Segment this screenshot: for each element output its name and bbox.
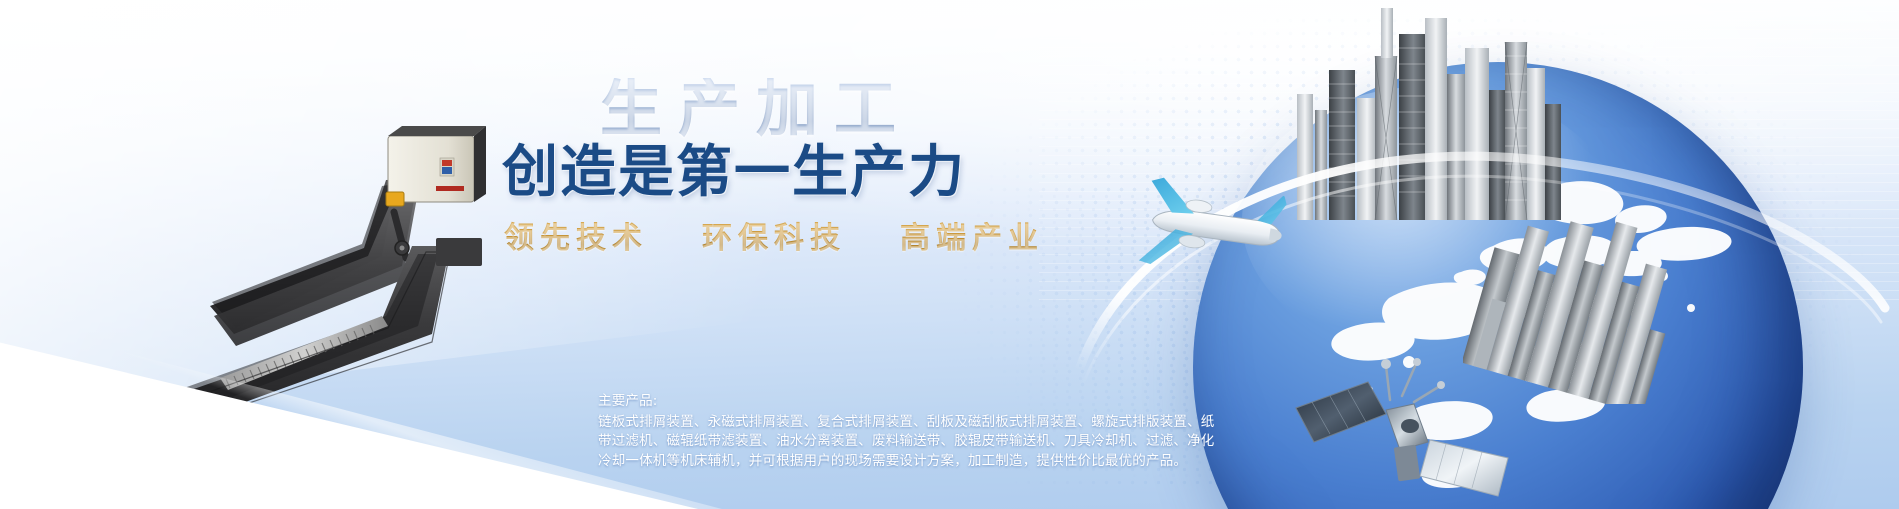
- banner-subtitle: 创造是第一生产力: [502, 144, 1260, 203]
- product-description-title: 主要产品:: [598, 392, 1218, 412]
- tagline-item-2: 高端产业: [900, 213, 1044, 257]
- product-description: 主要产品: 链板式排屑装置、永磁式排屑装置、复合式排屑装置、刮板及磁刮板式排屑装…: [598, 392, 1218, 471]
- city-skyline-illustration: [1269, 0, 1599, 248]
- tagline-item-0: 领先技术: [504, 213, 648, 257]
- product-description-body: 链板式排屑装置、永磁式排屑装置、复合式排屑装置、刮板及磁刮板式排屑装置、螺旋式排…: [598, 413, 1218, 472]
- page-title: 生产加工: [600, 78, 1260, 140]
- promo-banner: 生产加工 创造是第一生产力 领先技术 环保科技 高端产业 主要产品: 链板式排屑…: [0, 0, 1899, 509]
- satellite-illustration: [1290, 330, 1520, 509]
- banner-copy: 生产加工 创造是第一生产力 领先技术 环保科技 高端产业: [500, 78, 1260, 257]
- tagline-row: 领先技术 环保科技 高端产业: [504, 213, 1260, 257]
- tagline-item-1: 环保科技: [702, 213, 846, 257]
